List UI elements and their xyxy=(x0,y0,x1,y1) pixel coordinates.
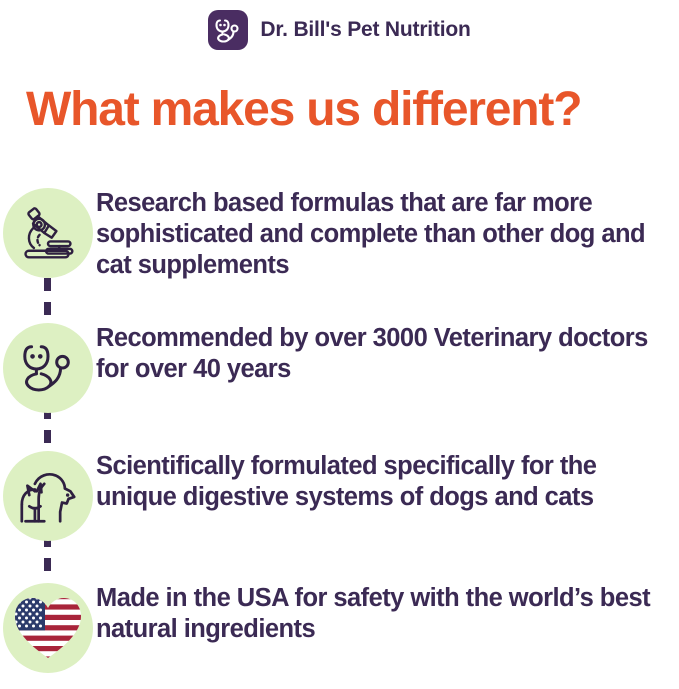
microscope-icon xyxy=(18,204,78,262)
icon-circle xyxy=(3,323,93,413)
feature-list: Research based formulas that are far mor… xyxy=(0,180,679,689)
icon-circle xyxy=(3,583,93,673)
feature-text: Scientifically formulated specifically f… xyxy=(96,451,679,513)
feature-item: Made in the USA for safety with the worl… xyxy=(0,583,679,673)
brand-header: Dr. Bill's Pet Nutrition xyxy=(0,0,679,52)
feature-text: Made in the USA for safety with the worl… xyxy=(96,583,679,645)
icon-circle xyxy=(3,188,93,278)
feature-icon-wrap xyxy=(0,583,96,673)
connector-dashed-3 xyxy=(44,534,51,582)
brand-logo-mark xyxy=(208,10,248,50)
icon-circle xyxy=(3,451,93,541)
feature-text: Recommended by over 3000 Veterinary doct… xyxy=(96,323,679,385)
feature-icon-wrap xyxy=(0,323,96,413)
stethoscope-face-icon xyxy=(19,339,77,397)
stethoscope-face-icon xyxy=(213,15,243,45)
connector-dashed-1 xyxy=(44,278,51,322)
feature-item: Scientifically formulated specifically f… xyxy=(0,451,679,541)
feature-icon-wrap xyxy=(0,451,96,541)
feature-item: Recommended by over 3000 Veterinary doct… xyxy=(0,323,679,413)
dog-and-cat-icon xyxy=(16,467,80,525)
brand-name: Dr. Bill's Pet Nutrition xyxy=(260,18,470,42)
feature-icon-wrap xyxy=(0,188,96,278)
page-title: What makes us different? xyxy=(18,86,679,134)
feature-text: Research based formulas that are far mor… xyxy=(96,188,679,281)
feature-item: Research based formulas that are far mor… xyxy=(0,188,679,281)
usa-flag-heart-icon xyxy=(12,594,84,662)
